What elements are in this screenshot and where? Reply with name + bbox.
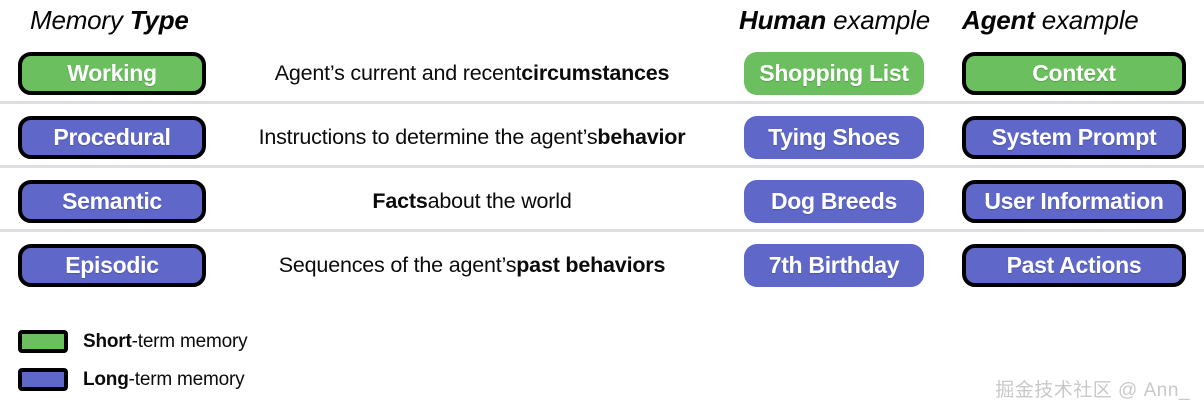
row-description-normal: about the world bbox=[428, 189, 572, 214]
agent-example-pill-user-information-label: User Information bbox=[984, 188, 1163, 215]
row-description: Agent’s current and recent circumstances bbox=[226, 52, 718, 95]
legend-label-short-term-rest: -term memory bbox=[132, 331, 248, 352]
row-description-bold: behavior bbox=[597, 125, 685, 150]
memory-type-pill-episodic-label: Episodic bbox=[65, 252, 158, 279]
legend-swatch-purple bbox=[18, 368, 68, 391]
memory-type-pill-procedural-label: Procedural bbox=[53, 124, 170, 151]
human-example-pill-shopping-list: Shopping List bbox=[744, 52, 924, 95]
legend-swatch-green bbox=[18, 330, 68, 353]
memory-type-table: Memory Type Human example Agent example … bbox=[0, 0, 1204, 416]
memory-type-pill-procedural: Procedural bbox=[18, 116, 206, 159]
column-header-memory-type-normal: Memory bbox=[30, 5, 130, 35]
column-header-agent-example-normal: example bbox=[1035, 5, 1139, 35]
column-header-memory-type: Memory Type bbox=[30, 5, 189, 36]
table-row: Episodic Sequences of the agent’s past b… bbox=[0, 234, 1204, 298]
human-example-pill-shopping-list-label: Shopping List bbox=[759, 60, 908, 87]
row-separator bbox=[0, 101, 1204, 104]
human-example-pill-dog-breeds-label: Dog Breeds bbox=[771, 188, 897, 215]
row-description-normal: Sequences of the agent’s bbox=[279, 253, 516, 278]
column-header-agent-example-bold: Agent bbox=[962, 5, 1035, 35]
row-description-bold: circumstances bbox=[521, 61, 669, 86]
row-description-bold: past behaviors bbox=[516, 253, 665, 278]
column-header-human-example-bold: Human bbox=[739, 5, 826, 35]
row-description-normal: Agent’s current and recent bbox=[275, 61, 522, 86]
human-example-pill-7th-birthday: 7th Birthday bbox=[744, 244, 924, 287]
agent-example-pill-user-information: User Information bbox=[962, 180, 1186, 223]
legend-label-short-term-bold: Short bbox=[83, 331, 132, 352]
human-example-pill-7th-birthday-label: 7th Birthday bbox=[769, 252, 900, 279]
column-header-human-example-normal: example bbox=[826, 5, 930, 35]
legend-label-long-term-bold: Long bbox=[83, 369, 129, 390]
column-header-memory-type-bold: Type bbox=[130, 5, 189, 35]
row-description: Facts about the world bbox=[226, 180, 718, 223]
legend-label-short-term: Short-term memory bbox=[83, 331, 247, 353]
row-separator bbox=[0, 229, 1204, 232]
agent-example-pill-context-label: Context bbox=[1032, 60, 1116, 87]
table-row: Semantic Facts about the world Dog Breed… bbox=[0, 170, 1204, 234]
table-row: Procedural Instructions to determine the… bbox=[0, 106, 1204, 170]
human-example-pill-dog-breeds: Dog Breeds bbox=[744, 180, 924, 223]
column-header-human-example: Human example bbox=[739, 5, 930, 36]
agent-example-pill-system-prompt-label: System Prompt bbox=[992, 124, 1157, 151]
agent-example-pill-past-actions-label: Past Actions bbox=[1007, 252, 1142, 279]
row-separator bbox=[0, 165, 1204, 168]
legend-item-short-term: Short-term memory bbox=[18, 330, 247, 353]
human-example-pill-tying-shoes: Tying Shoes bbox=[744, 116, 924, 159]
row-description-bold: Facts bbox=[372, 189, 427, 214]
human-example-pill-tying-shoes-label: Tying Shoes bbox=[768, 124, 900, 151]
row-description-normal: Instructions to determine the agent’s bbox=[259, 125, 598, 150]
memory-type-pill-working-label: Working bbox=[67, 60, 156, 87]
watermark: 掘金技术社区 @ Ann_ bbox=[995, 375, 1190, 402]
row-description: Instructions to determine the agent’s be… bbox=[226, 116, 718, 159]
table-header-row: Memory Type Human example Agent example bbox=[0, 0, 1204, 42]
table-row: Working Agent’s current and recent circu… bbox=[0, 42, 1204, 106]
column-header-agent-example: Agent example bbox=[962, 5, 1139, 36]
memory-type-pill-semantic: Semantic bbox=[18, 180, 206, 223]
memory-type-pill-episodic: Episodic bbox=[18, 244, 206, 287]
memory-type-pill-working: Working bbox=[18, 52, 206, 95]
legend-item-long-term: Long-term memory bbox=[18, 368, 244, 391]
legend-label-long-term-rest: -term memory bbox=[129, 369, 245, 390]
agent-example-pill-system-prompt: System Prompt bbox=[962, 116, 1186, 159]
agent-example-pill-context: Context bbox=[962, 52, 1186, 95]
legend-label-long-term: Long-term memory bbox=[83, 369, 244, 391]
row-description: Sequences of the agent’s past behaviors bbox=[226, 244, 718, 287]
memory-type-pill-semantic-label: Semantic bbox=[62, 188, 162, 215]
agent-example-pill-past-actions: Past Actions bbox=[962, 244, 1186, 287]
